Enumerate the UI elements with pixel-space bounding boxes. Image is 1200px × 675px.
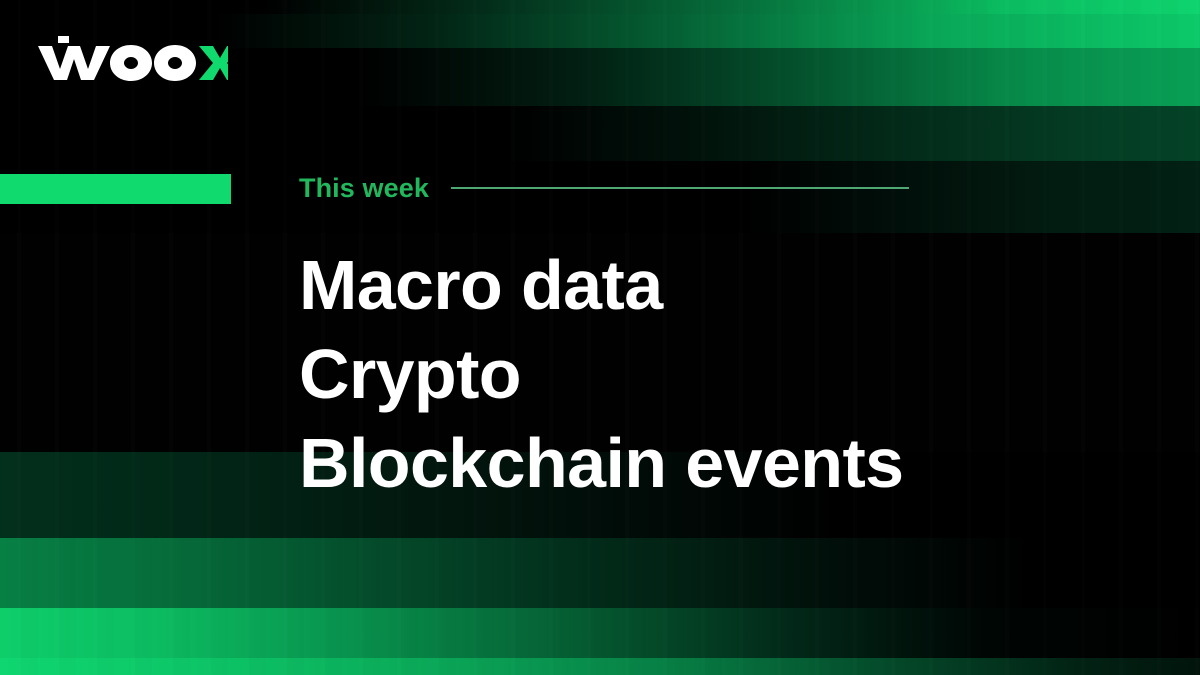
headline-line-2: Crypto xyxy=(299,330,1139,419)
band-top-4 xyxy=(0,106,1200,161)
headline-line-1: Macro data xyxy=(299,241,1139,330)
headline: Macro data Crypto Blockchain events xyxy=(299,241,1139,508)
band-bottom-2 xyxy=(0,538,1200,608)
headline-line-3: Blockchain events xyxy=(299,419,1139,508)
eyebrow-rule xyxy=(451,187,909,189)
left-accent-bar xyxy=(0,174,231,204)
promo-banner: This week Macro data Crypto Blockchain e… xyxy=(0,0,1200,675)
band-bottom-4 xyxy=(0,658,1200,675)
band-bottom-3 xyxy=(0,608,1200,658)
woox-logo[interactable] xyxy=(36,36,228,84)
woox-logo-icon xyxy=(36,36,228,84)
eyebrow-label: This week xyxy=(299,175,429,202)
band-top-1 xyxy=(0,0,1200,14)
eyebrow: This week xyxy=(299,168,909,208)
